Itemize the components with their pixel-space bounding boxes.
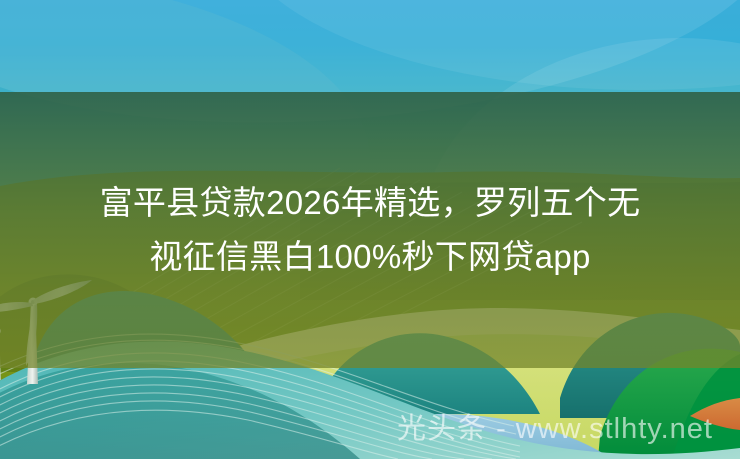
headline-line-2: 视征信黑白100%秒下网贷app <box>40 230 700 284</box>
watermark-text: 光头条 - www.stlhty.net <box>27 413 713 445</box>
headline-line-1: 富平县贷款2026年精选，罗列五个无 <box>40 176 700 230</box>
banner-image: 富平县贷款2026年精选，罗列五个无 视征信黑白100%秒下网贷app 光头条 … <box>0 0 740 459</box>
headline-container: 富平县贷款2026年精选，罗列五个无 视征信黑白100%秒下网贷app <box>0 92 740 368</box>
watermark: 光头条 - www.stlhty.net <box>0 405 740 447</box>
page-title: 富平县贷款2026年精选，罗列五个无 视征信黑白100%秒下网贷app <box>40 176 700 284</box>
